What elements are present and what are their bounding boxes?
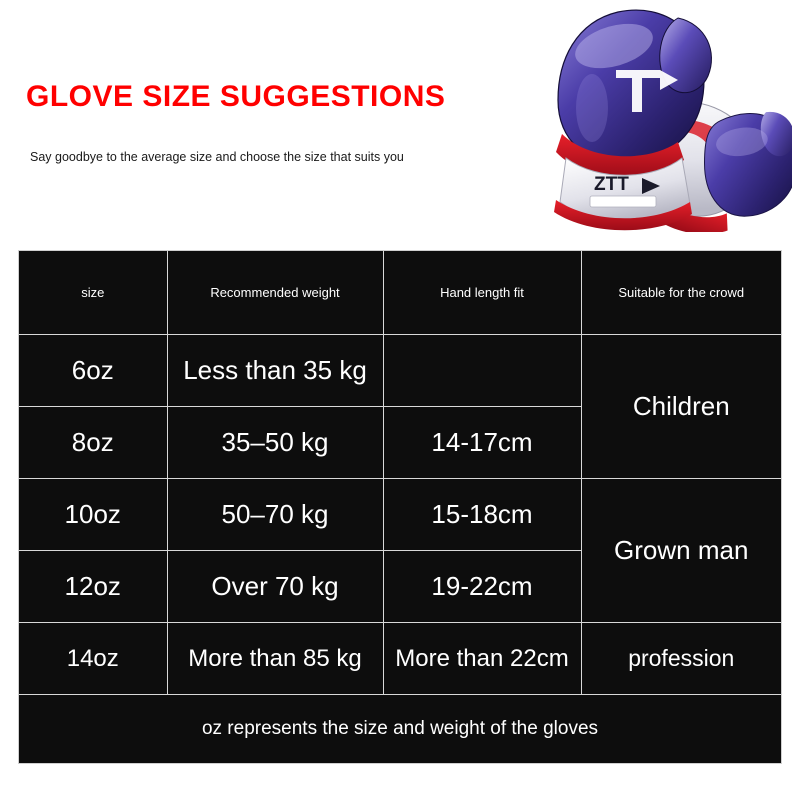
page-subtitle: Say goodbye to the average size and choo… [30, 150, 404, 164]
table-row: 14oz More than 85 kg More than 22cm prof… [19, 623, 781, 695]
table-header-row: size Recommended weight Hand length fit … [19, 251, 781, 335]
svg-text:ZTT: ZTT [594, 174, 629, 195]
cell-crowd: Children [581, 335, 781, 479]
column-header-crowd: Suitable for the crowd [581, 251, 781, 335]
cell-size: 14oz [19, 623, 167, 695]
glove-size-table: size Recommended weight Hand length fit … [19, 251, 781, 763]
cell-weight: 50–70 kg [167, 479, 383, 551]
cell-hand-length [383, 335, 581, 407]
glove-size-table-container: size Recommended weight Hand length fit … [18, 250, 782, 764]
cell-hand-length: 15-18cm [383, 479, 581, 551]
cell-crowd: Grown man [581, 479, 781, 623]
table-row: 6oz Less than 35 kg Children [19, 335, 781, 407]
table-row: 10oz 50–70 kg 15-18cm Grown man [19, 479, 781, 551]
cell-hand-length: More than 22cm [383, 623, 581, 695]
column-header-hand-length: Hand length fit [383, 251, 581, 335]
cell-weight: Less than 35 kg [167, 335, 383, 407]
cell-weight: Over 70 kg [167, 551, 383, 623]
column-header-weight: Recommended weight [167, 251, 383, 335]
cell-size: 10oz [19, 479, 167, 551]
cell-size: 12oz [19, 551, 167, 623]
page-header: GLOVE SIZE SUGGESTIONS Say goodbye to th… [0, 0, 800, 238]
cell-weight: 35–50 kg [167, 407, 383, 479]
boxing-gloves-image: ZTT [532, 4, 792, 232]
footer-note: oz represents the size and weight of the… [19, 695, 781, 763]
page-title: GLOVE SIZE SUGGESTIONS [26, 80, 445, 114]
column-header-size: size [19, 251, 167, 335]
cell-hand-length: 19-22cm [383, 551, 581, 623]
cell-crowd: profession [581, 623, 781, 695]
table-footer-row: oz represents the size and weight of the… [19, 695, 781, 763]
cell-weight: More than 85 kg [167, 623, 383, 695]
cell-size: 6oz [19, 335, 167, 407]
cell-size: 8oz [19, 407, 167, 479]
cell-hand-length: 14-17cm [383, 407, 581, 479]
